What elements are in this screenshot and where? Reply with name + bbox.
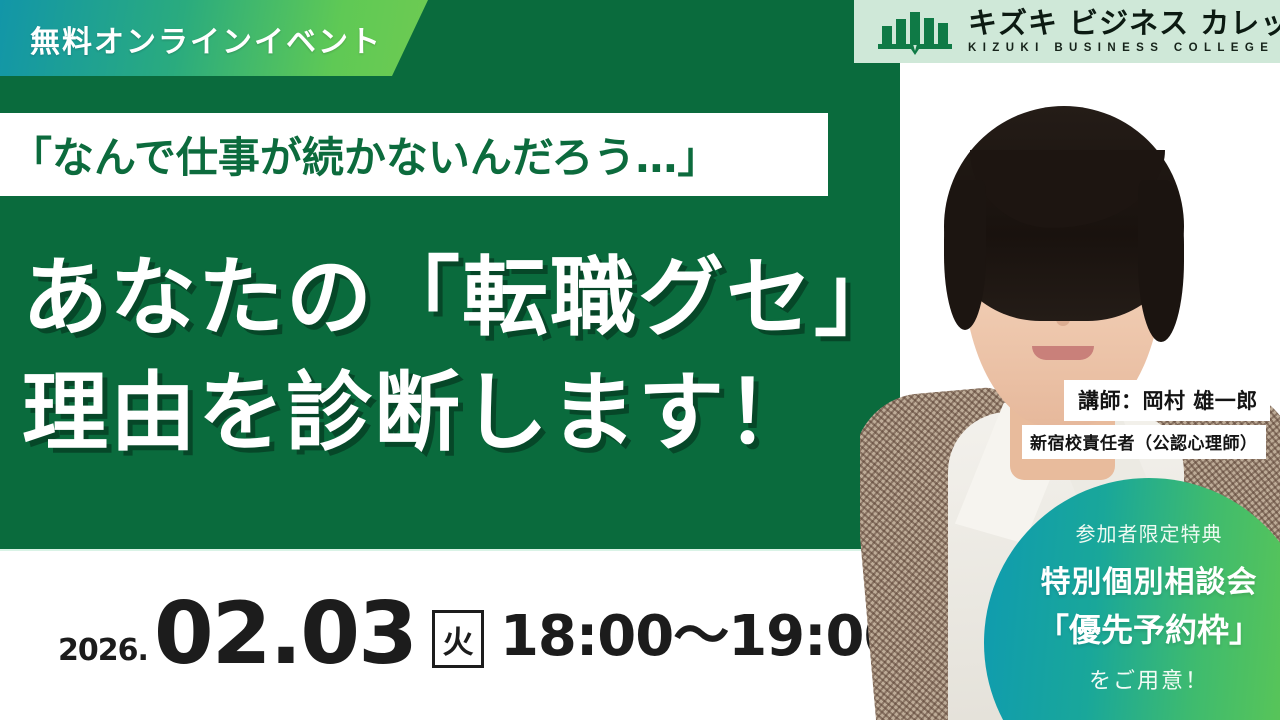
main-title-line-2-wrap: 理由を診断します！ [22,370,814,456]
headline-quote-box: 「なんで仕事が続かないんだろう…」 [0,113,828,196]
book-bar-chart-icon [876,9,954,55]
benefit-line-2: 特別個別相談会 [1041,557,1258,601]
hair-side-left [944,180,986,330]
benefit-line-3: 「優先予約枠」 [1037,605,1261,651]
brand-name-en: KIZUKI BUSINESS COLLEGE [968,43,1280,55]
event-banner: 無料オンラインイベント キズキ ビジネス カレッジ KIZUKI BUSINES… [0,0,1280,720]
instructor-name-text: 講師：岡村 雄一郎 [1078,389,1258,413]
headline-quote-text: 「なんで仕事が続かないんだろう…」 [0,124,719,185]
instructor-role-badge: 新宿校責任者（公認心理師） [1022,425,1266,459]
main-title-line-1-wrap: あなたの「転職グセ」 [22,255,902,341]
main-title-line-1: あなたの「転職グセ」 [22,255,902,341]
benefit-line-4: をご用意！ [1089,663,1209,695]
free-event-ribbon: 無料オンラインイベント [0,0,428,76]
ribbon-label: 無料オンラインイベント [30,17,382,61]
brand-logo-bar: キズキ ビジネス カレッジ KIZUKI BUSINESS COLLEGE [854,0,1280,63]
schedule-time: 18:00〜19:00 [500,591,902,672]
schedule-weekday: 火 [442,617,473,662]
mouth [1032,346,1094,360]
schedule-year: 2026. [58,633,148,674]
brand-text: キズキ ビジネス カレッジ KIZUKI BUSINESS COLLEGE [968,9,1280,55]
instructor-name-badge: 講師：岡村 雄一郎 [1064,380,1270,421]
schedule-weekday-box: 火 [432,610,484,668]
benefit-line-1: 参加者限定特典 [1076,518,1223,547]
schedule-date: 02.03 [154,595,416,674]
schedule-inner: 2026. 02.03 火 18:00〜19:00 [58,591,901,674]
brand-name-jp: キズキ ビジネス カレッジ [968,9,1280,38]
hair-side-right [1138,180,1184,342]
main-title-line-2: 理由を診断します！ [22,370,814,456]
instructor-role-text: 新宿校責任者（公認心理師） [1030,434,1258,454]
